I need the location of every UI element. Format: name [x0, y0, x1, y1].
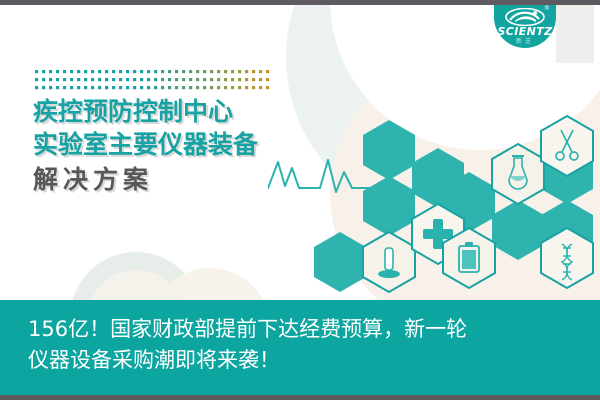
brand-logo[interactable]: ® SCIENTZ 新芝 [494, 0, 556, 48]
hexagon-thermometer [363, 232, 415, 292]
dot-grid-pattern [35, 70, 273, 92]
logo-backdrop [556, 5, 594, 63]
logo-sub-wordmark: 新芝 [494, 36, 556, 45]
clipboard-icon [459, 242, 479, 272]
headline-line-3: 解决方案 [33, 163, 258, 196]
headline-line-2: 实验室主要仪器装备 [33, 128, 258, 161]
headline-block: 疾控预防控制中心 实验室主要仪器装备 解决方案 [33, 95, 258, 196]
top-edge-bar [0, 0, 600, 5]
headline-line-1: 疾控预防控制中心 [33, 95, 258, 128]
hexagon-flask [492, 144, 544, 204]
banner-line-2: 仪器设备采购潮即将来袭！ [28, 345, 600, 376]
bottom-edge-bar [0, 395, 600, 400]
poster-root: 疾控预防控制中心 实验室主要仪器装备 解决方案 ® SCIENTZ 新芝 156… [0, 0, 600, 400]
registered-mark-icon: ® [545, 6, 549, 12]
announcement-banner: 156亿！国家财政部提前下达经费预算，新一轮 仪器设备采购潮即将来袭！ [0, 300, 600, 395]
scientz-emblem-icon [505, 8, 545, 26]
banner-line-1: 156亿！国家财政部提前下达经费预算，新一轮 [28, 314, 600, 345]
